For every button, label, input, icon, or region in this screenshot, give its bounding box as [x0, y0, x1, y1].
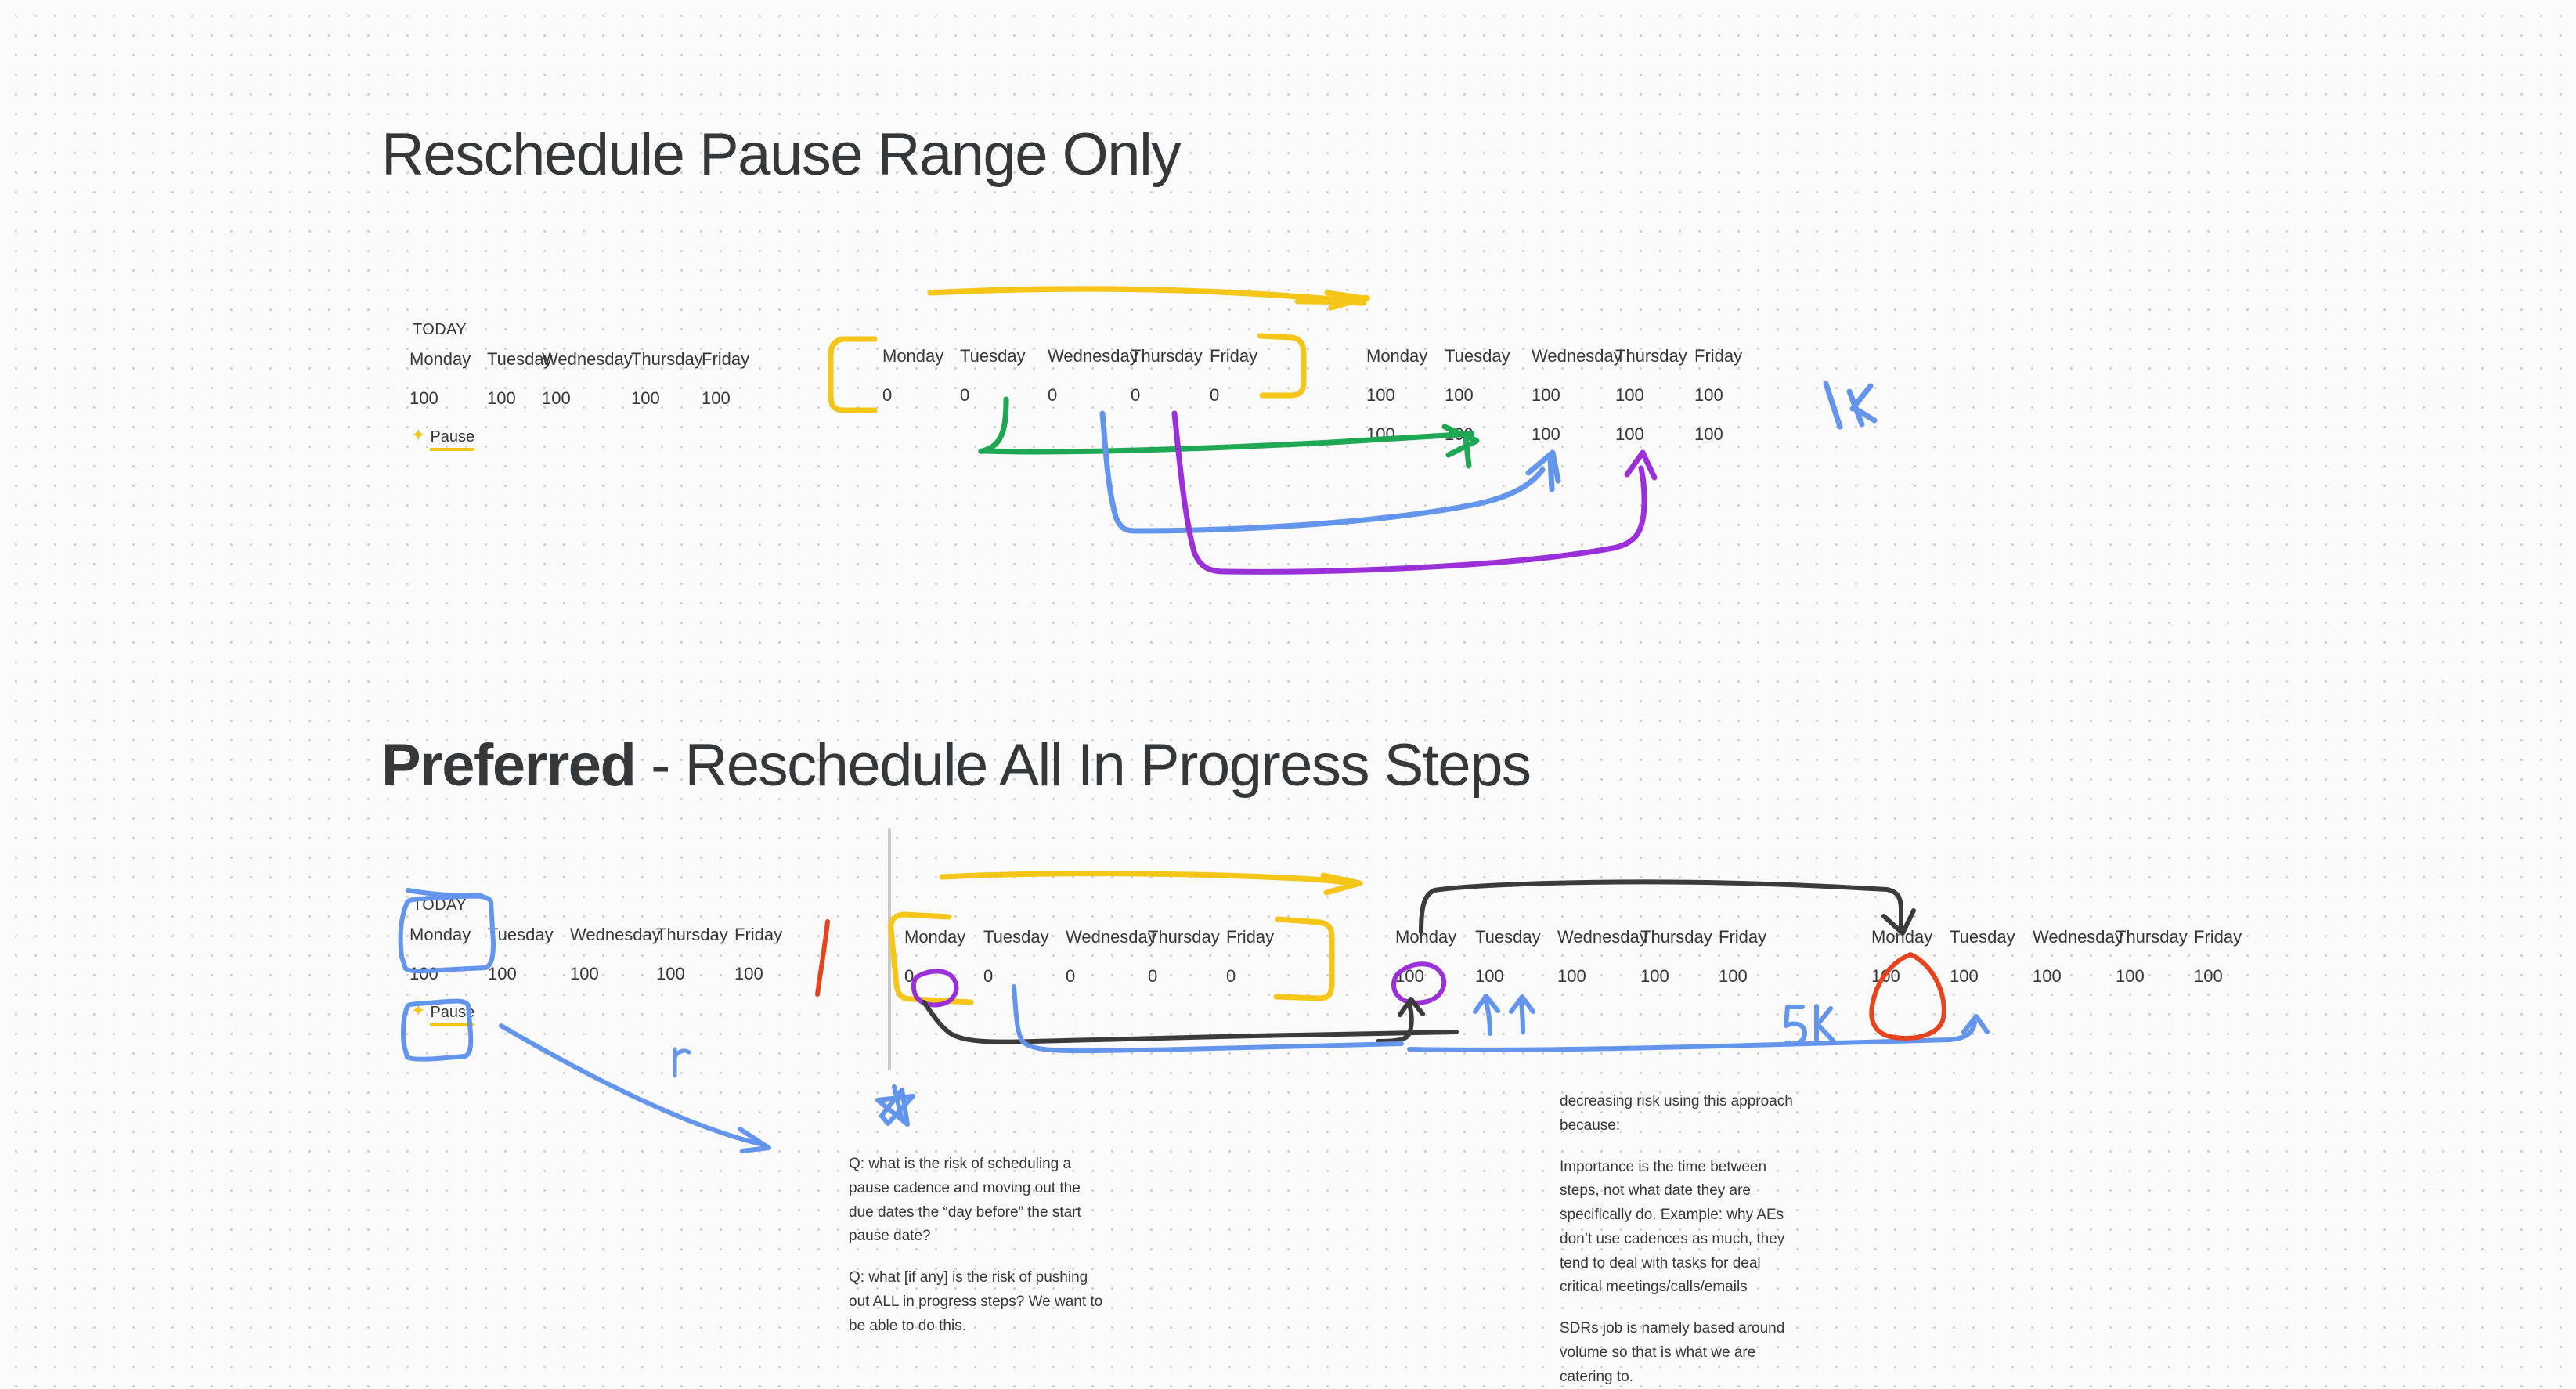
page-title-top: Reschedule Pause Range Only — [381, 125, 1180, 185]
day-header-friday: Friday — [1694, 347, 1742, 366]
cell-thursday: 0 — [1131, 386, 1210, 405]
day-header-thursday: Thursday — [1640, 928, 1719, 947]
table-bottom-right[interactable]: Monday Tuesday Wednesday Thursday Friday… — [1395, 928, 1766, 1006]
cell-wednesday: 100 — [2033, 967, 2116, 986]
day-header-monday: Monday — [904, 928, 983, 947]
day-header-tuesday: Tuesday — [1475, 928, 1557, 947]
cell-monday: 0 — [904, 967, 983, 986]
table-header-row: Monday Tuesday Wednesday Thursday Friday — [1366, 347, 1742, 386]
blue-arrow-pause-down — [501, 1026, 769, 1151]
today-label: TODAY — [409, 321, 749, 339]
star-icon: ✦ — [411, 1002, 425, 1019]
day-header-monday: Monday — [409, 350, 487, 369]
table-top-left[interactable]: TODAY Monday Tuesday Wednesday Thursday … — [409, 321, 749, 451]
whiteboard-canvas[interactable]: Reschedule Pause Range Only TODAY Monday… — [0, 0, 2576, 1333]
cell-tuesday-2: 100 — [1445, 425, 1532, 444]
yellow-bracket-right-bottom — [1276, 919, 1332, 998]
table-header-row: Monday Tuesday Wednesday Thursday Friday — [409, 925, 782, 965]
day-header-monday: Monday — [1395, 928, 1475, 947]
cell-wednesday: 0 — [1048, 386, 1131, 405]
cell-wednesday: 0 — [1066, 967, 1148, 986]
note-rationale-1: decreasing risk using this approach beca… — [1560, 1090, 1795, 1138]
blue-star-doodle — [878, 1087, 913, 1124]
day-header-wednesday: Wednesday — [1532, 347, 1615, 366]
table-header-row: Monday Tuesday Wednesday Thursday Friday — [409, 350, 749, 389]
table-bottom-middle[interactable]: Monday Tuesday Wednesday Thursday Friday… — [904, 928, 1274, 1006]
cell-wednesday: 100 — [1532, 386, 1615, 405]
handwritten-r — [675, 1049, 689, 1076]
day-header-tuesday: Tuesday — [1950, 928, 2033, 947]
table-row: 100 100 100 100 100 — [409, 965, 782, 1004]
page-title-top-text: Reschedule Pause Range Only — [381, 121, 1180, 188]
yellow-bracket-right-top — [1260, 336, 1304, 395]
yellow-arrow-top-head — [1327, 293, 1364, 308]
cell-friday: 0 — [1226, 967, 1236, 986]
yellow-bracket-left-top — [831, 339, 875, 410]
day-header-friday: Friday — [1719, 928, 1766, 947]
table-header-row: Monday Tuesday Wednesday Thursday Friday — [1871, 928, 2242, 967]
cell-tuesday: 100 — [1445, 386, 1532, 405]
day-header-thursday: Thursday — [1131, 347, 1210, 366]
day-header-friday: Friday — [734, 925, 782, 944]
cell-tuesday: 0 — [983, 967, 1066, 986]
day-header-tuesday: Tuesday — [1445, 347, 1532, 366]
note-rationale-2: Importance is the time between steps, no… — [1560, 1156, 1795, 1301]
pause-chip-bottom-left[interactable]: ✦ Pause — [409, 1004, 782, 1026]
table-row: 0 0 0 0 0 — [882, 386, 1257, 425]
day-header-tuesday: Tuesday — [488, 925, 570, 944]
day-header-friday: Friday — [2194, 928, 2242, 947]
day-header-wednesday: Wednesday — [1557, 928, 1640, 947]
day-header-monday: Monday — [409, 925, 488, 944]
cell-monday-2: 100 — [1366, 425, 1445, 444]
cell-thursday-2: 100 — [1615, 425, 1694, 444]
note-questions[interactable]: Q: what is the risk of scheduling a paus… — [849, 1153, 1107, 1338]
day-header-monday: Monday — [1366, 347, 1445, 366]
cell-tuesday: 100 — [1950, 967, 2033, 986]
cell-tuesday: 100 — [488, 965, 570, 983]
note-question-2: Q: what [if any] is the risk of pushing … — [849, 1266, 1107, 1338]
day-header-friday: Friday — [1226, 928, 1274, 947]
cell-monday: 100 — [409, 389, 487, 408]
day-header-thursday: Thursday — [631, 350, 702, 369]
handwritten-1k — [1826, 384, 1874, 427]
day-header-monday: Monday — [1871, 928, 1950, 947]
cell-wednesday: 100 — [542, 389, 631, 408]
dark-arc-arrow-right — [1421, 882, 1914, 933]
day-header-friday: Friday — [702, 350, 749, 369]
cell-tuesday: 100 — [487, 389, 542, 408]
table-header-row: Monday Tuesday Wednesday Thursday Friday — [882, 347, 1257, 386]
table-top-right[interactable]: Monday Tuesday Wednesday Thursday Friday… — [1366, 347, 1742, 465]
day-header-thursday: Thursday — [1615, 347, 1694, 366]
yellow-arrow-top — [930, 289, 1367, 303]
day-header-wednesday: Wednesday — [1048, 347, 1131, 366]
dark-arc-arrow-mid — [924, 1002, 1456, 1042]
cell-wednesday: 100 — [1557, 967, 1640, 986]
cell-tuesday: 0 — [960, 386, 1048, 405]
note-rationale[interactable]: decreasing risk using this approach beca… — [1560, 1090, 1795, 1389]
cell-wednesday: 100 — [570, 965, 656, 983]
red-tick-mark — [817, 922, 828, 994]
note-rationale-3: SDRs job is namely based around volume s… — [1560, 1317, 1795, 1389]
day-header-wednesday: Wednesday — [1066, 928, 1148, 947]
cell-monday: 100 — [1366, 386, 1445, 405]
day-header-thursday: Thursday — [656, 925, 734, 944]
blue-line-5k — [1409, 1016, 1987, 1050]
cell-monday: 100 — [409, 965, 488, 983]
day-header-monday: Monday — [882, 347, 960, 366]
day-header-wednesday: Wednesday — [2033, 928, 2116, 947]
cell-friday: 100 — [2194, 967, 2223, 986]
cell-thursday: 100 — [631, 389, 702, 408]
cell-wednesday-2: 100 — [1532, 425, 1615, 444]
cell-monday: 100 — [1871, 967, 1950, 986]
page-title-bottom-rest: - Reschedule All In Progress Steps — [635, 732, 1530, 799]
table-bottom-far-right[interactable]: Monday Tuesday Wednesday Thursday Friday… — [1871, 928, 2242, 1006]
day-header-tuesday: Tuesday — [487, 350, 542, 369]
pause-chip-top-left[interactable]: ✦ Pause — [409, 428, 749, 451]
day-header-wednesday: Wednesday — [542, 350, 631, 369]
cell-friday: 0 — [1210, 386, 1219, 405]
day-header-thursday: Thursday — [2116, 928, 2194, 947]
cell-friday: 100 — [702, 389, 731, 408]
handwritten-5k — [1786, 1006, 1834, 1044]
cell-thursday: 100 — [1640, 967, 1719, 986]
cell-tuesday: 100 — [1475, 967, 1557, 986]
table-header-row: Monday Tuesday Wednesday Thursday Friday — [1395, 928, 1766, 967]
table-row: 100 100 100 100 100 — [1366, 386, 1742, 425]
cell-friday: 100 — [1719, 967, 1748, 986]
cell-friday: 100 — [1694, 386, 1723, 405]
cell-thursday: 100 — [656, 965, 734, 983]
day-header-tuesday: Tuesday — [960, 347, 1048, 366]
day-header-thursday: Thursday — [1148, 928, 1226, 947]
star-icon: ✦ — [411, 427, 425, 444]
page-title-bottom-bold: Preferred — [381, 732, 635, 799]
today-label: TODAY — [409, 897, 782, 915]
cell-monday: 100 — [1395, 967, 1475, 986]
ink-annotation-layer — [0, 0, 2576, 1333]
cell-monday: 0 — [882, 386, 960, 405]
table-bottom-left[interactable]: TODAY Monday Tuesday Wednesday Thursday … — [409, 897, 782, 1026]
pause-label: Pause — [430, 428, 474, 451]
pause-label: Pause — [430, 1004, 474, 1026]
day-header-friday: Friday — [1210, 347, 1257, 366]
table-row: 100 100 100 100 100 — [1366, 425, 1742, 464]
day-header-wednesday: Wednesday — [570, 925, 656, 944]
cell-thursday: 100 — [2116, 967, 2194, 986]
table-header-row: Monday Tuesday Wednesday Thursday Friday — [904, 928, 1274, 967]
cell-thursday: 100 — [1615, 386, 1694, 405]
table-row: 100 100 100 100 100 — [1871, 967, 2242, 1006]
table-row: 100 100 100 100 100 — [409, 389, 749, 428]
table-top-middle[interactable]: Monday Tuesday Wednesday Thursday Friday… — [882, 347, 1257, 425]
yellow-arrow-bottom — [942, 874, 1360, 893]
cell-thursday: 0 — [1148, 967, 1226, 986]
table-row: 100 100 100 100 100 — [1395, 967, 1766, 1006]
cell-friday-2: 100 — [1694, 425, 1723, 444]
note-question-1: Q: what is the risk of scheduling a paus… — [849, 1153, 1107, 1249]
table-row: 0 0 0 0 0 — [904, 967, 1274, 1006]
day-header-tuesday: Tuesday — [983, 928, 1066, 947]
cell-friday: 100 — [734, 965, 763, 983]
page-title-bottom: Preferred - Reschedule All In Progress S… — [381, 736, 1530, 796]
